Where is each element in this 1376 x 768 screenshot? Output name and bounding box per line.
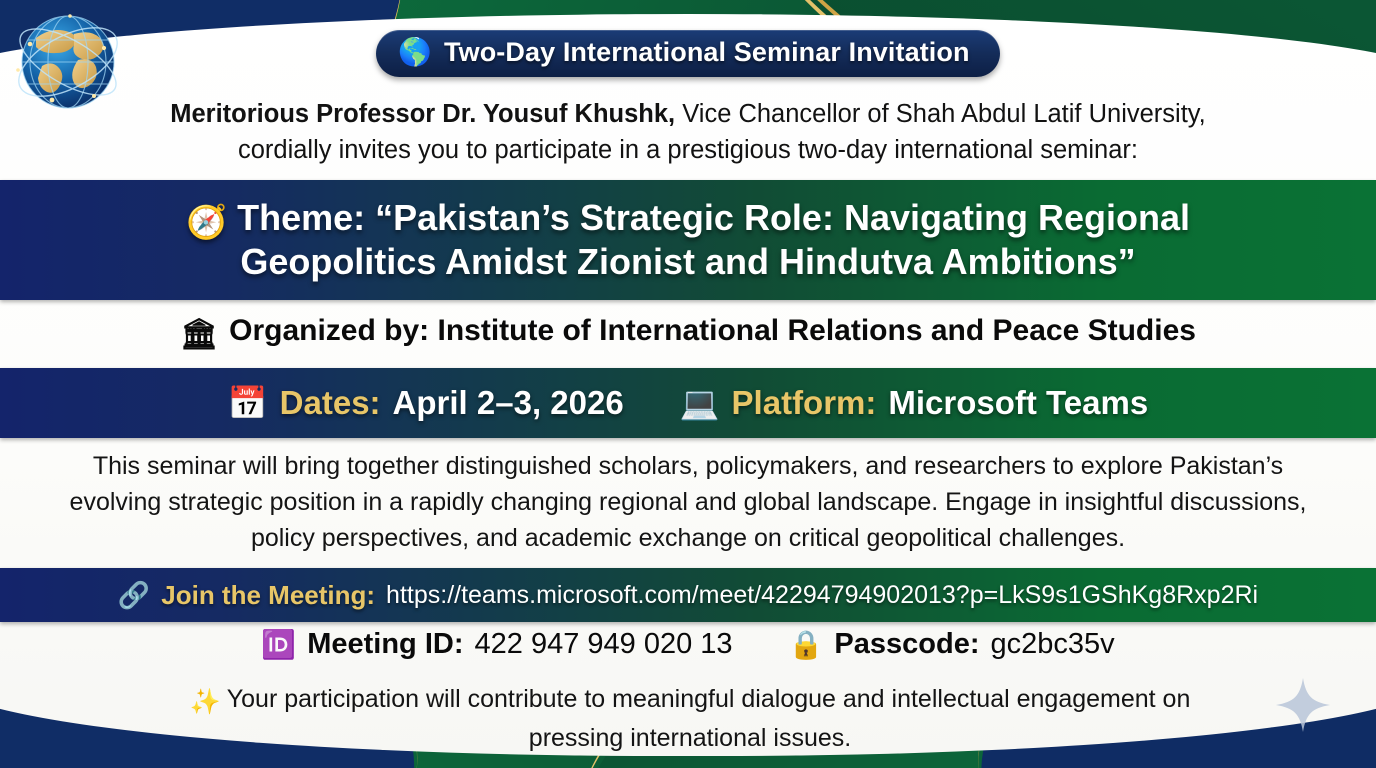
organizer-band: 🏛Organized by: Institute of Internationa… [0,302,1376,364]
organizer-row: 🏛Organized by: Institute of Internationa… [180,314,1196,352]
theme-band: 🧭Theme: “Pakistan’s Strategic Role: Navi… [0,180,1376,300]
host-role: Vice Chancellor of Shah Abdul Latif Univ… [675,100,1206,128]
meeting-credentials-row: 🆔 Meeting ID: 422 947 949 020 13 🔒 Passc… [0,628,1376,661]
meeting-id-label: Meeting ID: [307,628,463,661]
footer-note: ✨Your participation will contribute to m… [150,682,1230,756]
dates-group: 📅 Dates: April 2–3, 2026 [228,384,624,422]
join-meeting-band: 🔗 Join the Meeting: https://teams.micros… [0,568,1376,622]
globe-showing-americas-icon: 🌎 [398,39,432,66]
locked-icon: 🔒 [789,631,824,659]
compass-icon: 🧭 [186,203,227,240]
id-button-icon: 🆔 [261,631,296,659]
seminar-title-pill: 🌎 Two-Day International Seminar Invitati… [376,30,999,77]
passcode-group: 🔒 Passcode: gc2bc35v [789,628,1115,661]
platform-value: Microsoft Teams [888,384,1148,422]
platform-label: Platform: [732,384,877,422]
organizer-text: Organized by: Institute of International… [229,314,1196,347]
poster-content: 🌎 Two-Day International Seminar Invitati… [0,0,1376,768]
laptop-icon: 💻 [680,387,720,419]
theme-text: 🧭Theme: “Pakistan’s Strategic Role: Navi… [186,197,1190,283]
link-icon: 🔗 [118,582,150,608]
join-meeting-label: Join the Meeting: [161,580,375,611]
intro-line-2: cordially invites you to participate in … [238,136,1138,164]
seminar-invitation-poster: 🌎 Two-Day International Seminar Invitati… [0,0,1376,768]
passcode-label: Passcode: [834,628,979,661]
theme-line-2: Geopolitics Amidst Zionist and Hindutva … [240,241,1135,282]
seminar-description: This seminar will bring together disting… [52,448,1324,556]
meeting-id-group: 🆔 Meeting ID: 422 947 949 020 13 [261,628,732,661]
dates-label: Dates: [280,384,381,422]
host-name: Meritorious Professor Dr. Yousuf Khushk, [170,100,675,128]
dates-value: April 2–3, 2026 [393,384,624,422]
dates-platform-band: 📅 Dates: April 2–3, 2026 💻 Platform: Mic… [0,368,1376,438]
sparkles-icon: ✨ [190,688,221,716]
meeting-id-value[interactable]: 422 947 949 020 13 [475,628,733,661]
theme-line-1: Theme: “Pakistan’s Strategic Role: Navig… [237,197,1190,238]
invitation-intro: Meritorious Professor Dr. Yousuf Khushk,… [60,96,1316,168]
page-title: Two-Day International Seminar Invitation [444,37,970,68]
meeting-url-link[interactable]: https://teams.microsoft.com/meet/4229479… [386,581,1258,610]
platform-group: 💻 Platform: Microsoft Teams [680,384,1148,422]
join-meeting-row: 🔗 Join the Meeting: https://teams.micros… [118,580,1258,611]
header-title-row: 🌎 Two-Day International Seminar Invitati… [0,30,1376,77]
footer-text: Your participation will contribute to me… [227,685,1191,752]
classical-building-icon: 🏛 [180,318,218,351]
calendar-icon: 📅 [228,387,268,419]
passcode-value[interactable]: gc2bc35v [990,628,1114,661]
